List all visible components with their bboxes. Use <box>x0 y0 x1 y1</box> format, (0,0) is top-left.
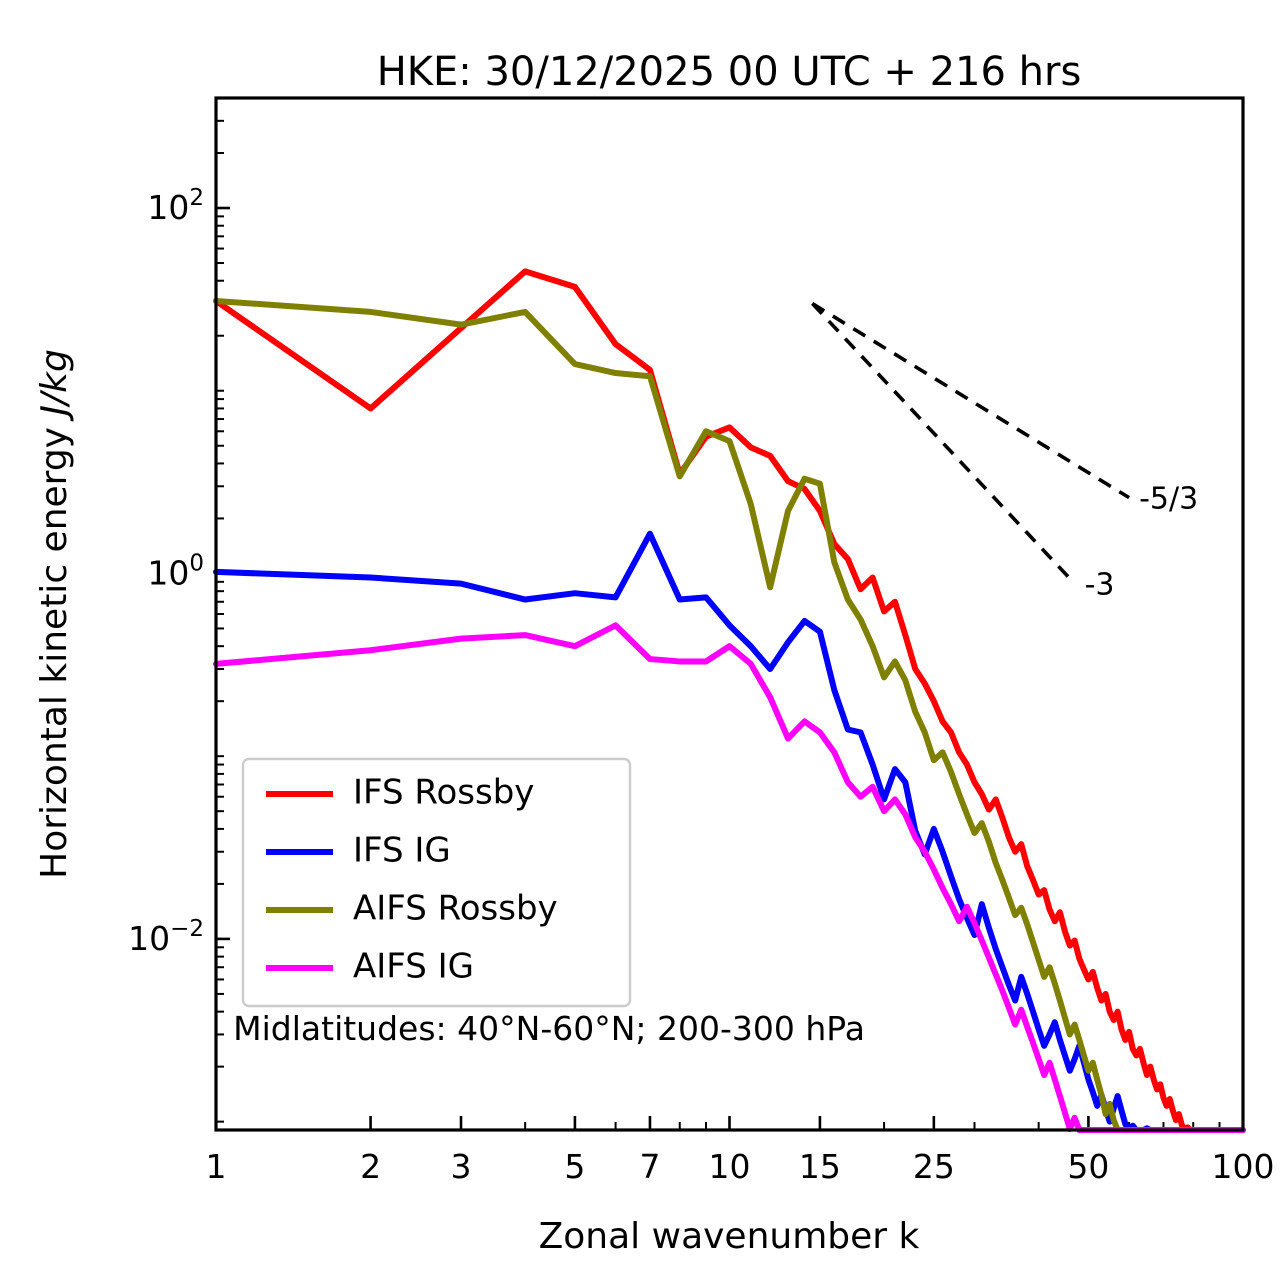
region-note: Midlatitudes: 40°N-60°N; 200-300 hPa <box>233 1009 865 1048</box>
x-tick-label: 15 <box>799 1147 841 1186</box>
y-axis-label: Horizontal kinetic energy J/kg <box>34 349 75 879</box>
legend-label-aifs-rossby: AIFS Rossby <box>353 889 558 929</box>
x-tick-label: 7 <box>639 1147 660 1186</box>
x-tick-label: 10 <box>709 1147 751 1186</box>
x-tick-label: 2 <box>360 1147 381 1186</box>
svg-text:Horizontal kinetic energy J/kg: Horizontal kinetic energy J/kg <box>34 349 75 879</box>
page-title: HKE: 30/12/2025 00 UTC + 216 hrs <box>377 49 1082 95</box>
slope-5-3-label: -5/3 <box>1139 482 1198 517</box>
legend-label-aifs-ig: AIFS IG <box>353 947 474 987</box>
legend-label-ifs-ig: IFS IG <box>353 831 451 871</box>
x-tick-label: 5 <box>564 1147 585 1186</box>
hke-spectrum-figure: HKE: 30/12/2025 00 UTC + 216 hrs Horizon… <box>0 0 1280 1288</box>
x-axis-label: Zonal wavenumber k <box>539 1216 920 1257</box>
x-tick-label: 50 <box>1067 1147 1109 1186</box>
x-tick-label: 1 <box>206 1147 227 1186</box>
x-tick-label: 25 <box>913 1147 955 1186</box>
x-tick-label: 100 <box>1212 1147 1275 1186</box>
slope-3-label: -3 <box>1085 568 1115 603</box>
y-axis-label-main: Horizontal kinetic energy <box>34 416 75 879</box>
legend: IFS RossbyIFS IGAIFS RossbyAIFS IG <box>243 759 630 1006</box>
y-axis-label-unit: J/kg <box>34 349 75 421</box>
x-tick-label: 3 <box>451 1147 472 1186</box>
annotations-group: Midlatitudes: 40°N-60°N; 200-300 hPa <box>233 1009 865 1048</box>
legend-label-ifs-rossby: IFS Rossby <box>353 773 534 813</box>
